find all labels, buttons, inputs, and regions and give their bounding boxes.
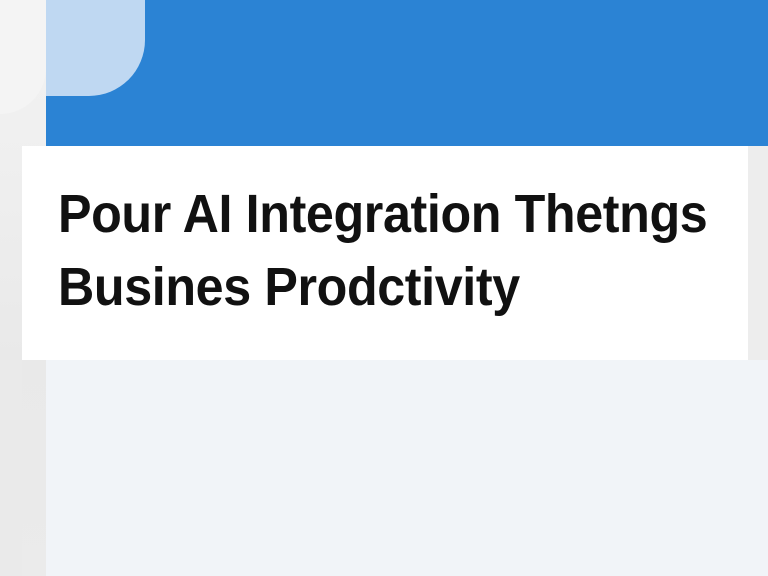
left-gutter-lower-strip <box>0 360 22 576</box>
slide-title-line-1: Pour AI Integration Thetngs <box>58 178 700 251</box>
header-band <box>46 0 768 146</box>
slide-title-line-2: Busines Prodctivity <box>58 251 700 324</box>
slide-body-background <box>0 360 768 576</box>
gutter-rounded-highlight <box>0 0 46 114</box>
card-right-edge-strip <box>748 146 768 360</box>
presentation-slide: Pour AI Integration Thetngs Busines Prod… <box>0 0 768 576</box>
slide-title: Pour AI Integration Thetngs Busines Prod… <box>58 178 748 324</box>
